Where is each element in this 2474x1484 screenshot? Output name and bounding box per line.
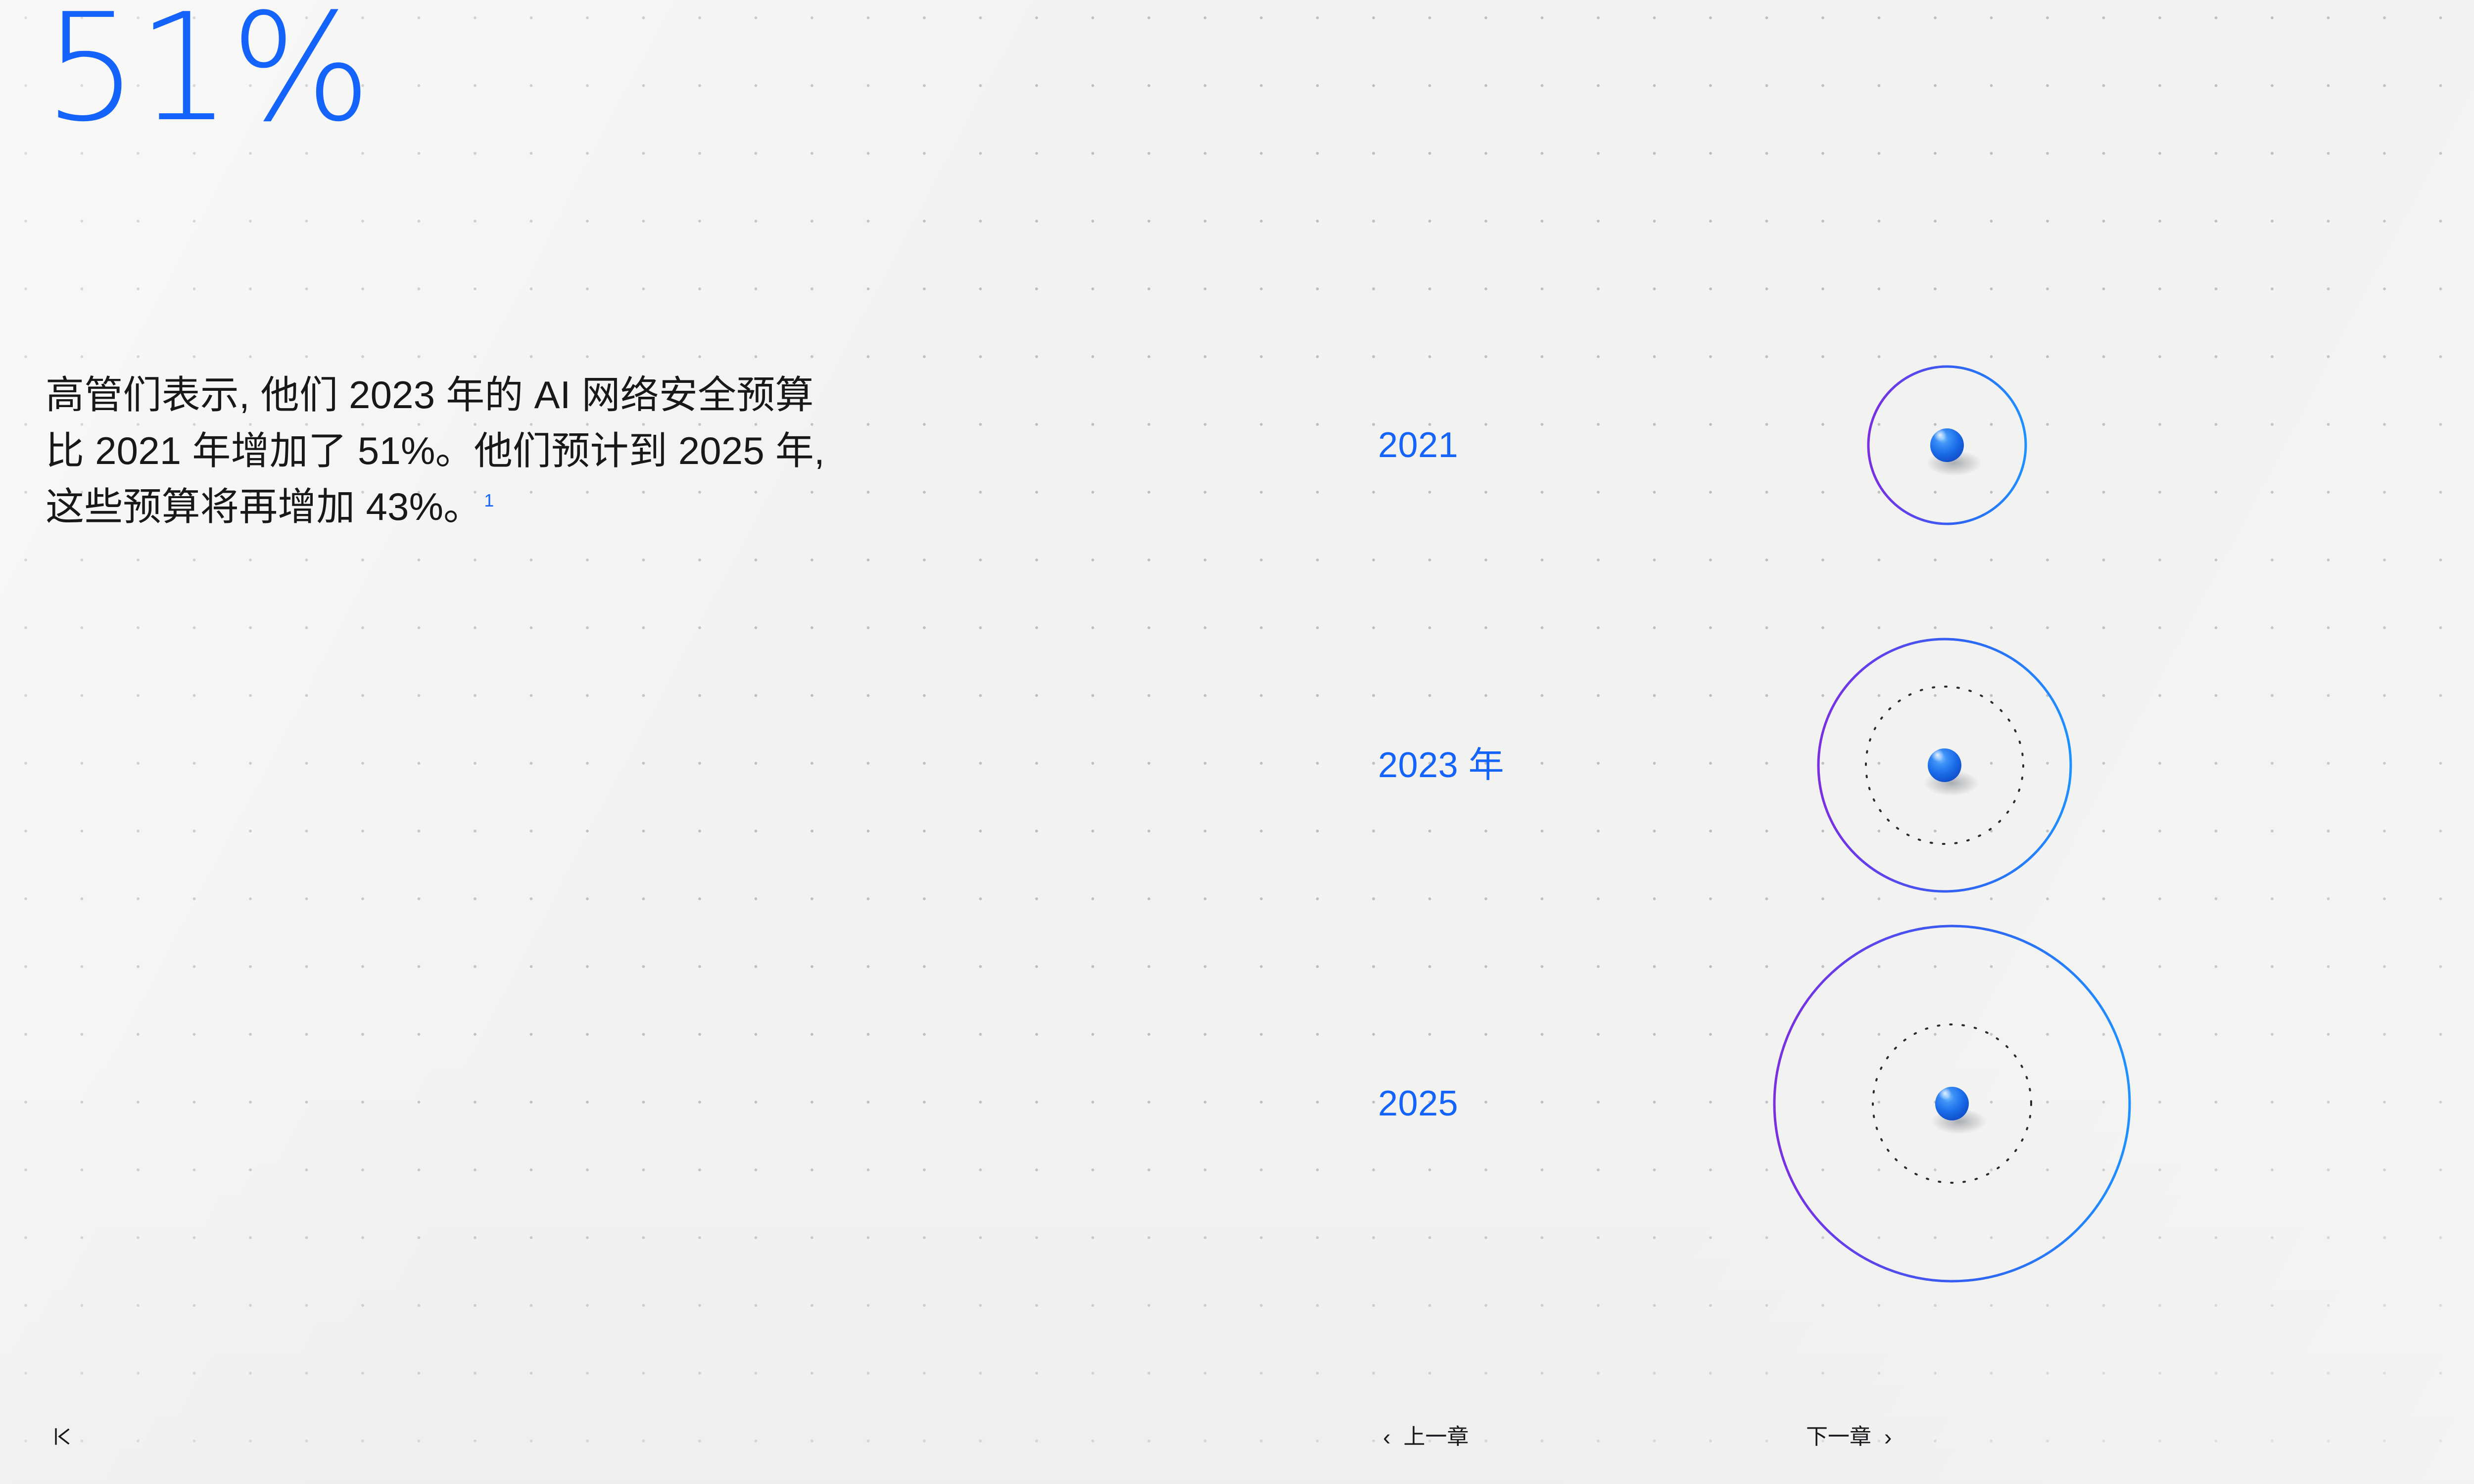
outer-ring-2021: [1868, 367, 2026, 524]
bubble-label-2023: 2023 年: [1378, 747, 1504, 783]
bubble-group-2021: [1499, 367, 2026, 524]
paper-texture-overlay: [0, 0, 2474, 1484]
next-chapter-button[interactable]: 下一章 ›: [1806, 1426, 1892, 1448]
footer-navigation-bar: ‹ 上一章 下一章 › 8: [0, 1400, 2474, 1484]
go-to-first-page-button[interactable]: [53, 1426, 83, 1447]
chevron-right-icon: ›: [1884, 1426, 1892, 1448]
sphere-2021: [1930, 428, 1964, 462]
dotted-reference-ring-2023: [1866, 687, 2023, 844]
dotted-reference-ring-2025: [1873, 1024, 2031, 1183]
sphere-highlight-2023: [1930, 749, 1951, 771]
previous-chapter-button[interactable]: ‹ 上一章: [1383, 1426, 1469, 1448]
bubble-chart: [0, 0, 2474, 1484]
sphere-shadow-2023: [1924, 770, 1979, 796]
next-chapter-label: 下一章: [1806, 1426, 1871, 1448]
footnote-marker[interactable]: 1: [482, 491, 494, 510]
bubble-label-2025: 2025: [1378, 1086, 1458, 1121]
body-paragraph: 高管们表示, 他们 2023 年的 AI 网络安全预算比 2021 年增加了 5…: [46, 367, 847, 535]
sphere-shadow-2025: [1931, 1109, 1987, 1134]
body-paragraph-text: 高管们表示, 他们 2023 年的 AI 网络安全预算比 2021 年增加了 5…: [46, 373, 825, 528]
sphere-shadow-2021: [1926, 450, 1982, 476]
sphere-highlight-2021: [1932, 429, 1954, 451]
chevron-left-icon: ‹: [1383, 1426, 1390, 1448]
page-title: 51%: [44, 0, 371, 142]
bubble-label-2021: 2021: [1378, 427, 1458, 463]
slide-canvas: 51% 高管们表示, 他们 2023 年的 AI 网络安全预算比 2021 年增…: [0, 0, 2474, 1484]
outer-ring-2025: [1774, 926, 2130, 1281]
dotted-background-pattern: [0, 0, 2474, 1484]
sphere-2025: [1935, 1087, 1969, 1120]
bubble-group-2023: [1514, 639, 2071, 891]
bubble-group-2025: [1514, 926, 2130, 1281]
sphere-2023: [1928, 748, 1961, 782]
sphere-highlight-2025: [1937, 1088, 1959, 1110]
previous-chapter-label: 上一章: [1403, 1426, 1469, 1448]
skip-to-start-icon: [53, 1426, 70, 1447]
outer-ring-2023: [1818, 639, 2071, 891]
